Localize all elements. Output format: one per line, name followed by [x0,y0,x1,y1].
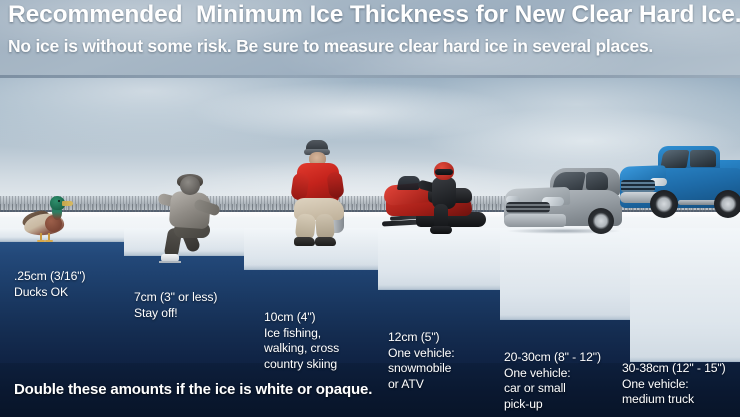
label-snowmobile: 12cm (5") One vehicle: snowmobile or ATV [388,330,455,392]
header-band: Recommended Minimum Ice Thickness for Ne… [0,0,740,78]
car-icon [504,162,626,240]
winter-scene: .25cm (3/16") Ducks OK 7cm (3" or less) … [0,78,740,417]
label-ice-fishing: 10cm (4") Ice fishing, walking, cross co… [264,310,339,372]
label-medium-truck: 30-38cm (12" - 15") One vehicle: medium … [622,361,726,408]
label-car: 20-30cm (8" - 12") One vehicle: car or s… [504,350,601,412]
ice-fisher-icon [288,140,352,250]
label-ducks: .25cm (3/16") Ducks OK [14,269,85,300]
snowmobile-icon [382,160,492,254]
page-subtitle: No ice is without some risk. Be sure to … [8,36,738,57]
ice-thickness-infographic: Recommended Minimum Ice Thickness for Ne… [0,0,740,417]
page-title: Recommended Minimum Ice Thickness for Ne… [8,1,734,29]
ice-step-car [500,228,630,320]
duck-icon [18,188,80,246]
footnote-text: Double these amounts if the ice is white… [14,381,372,398]
label-stay-off: 7cm (3" or less) Stay off! [134,290,217,321]
pickup-truck-icon [620,142,740,228]
ice-step-medium-truck [630,228,740,362]
fallen-skater-icon [150,174,228,266]
